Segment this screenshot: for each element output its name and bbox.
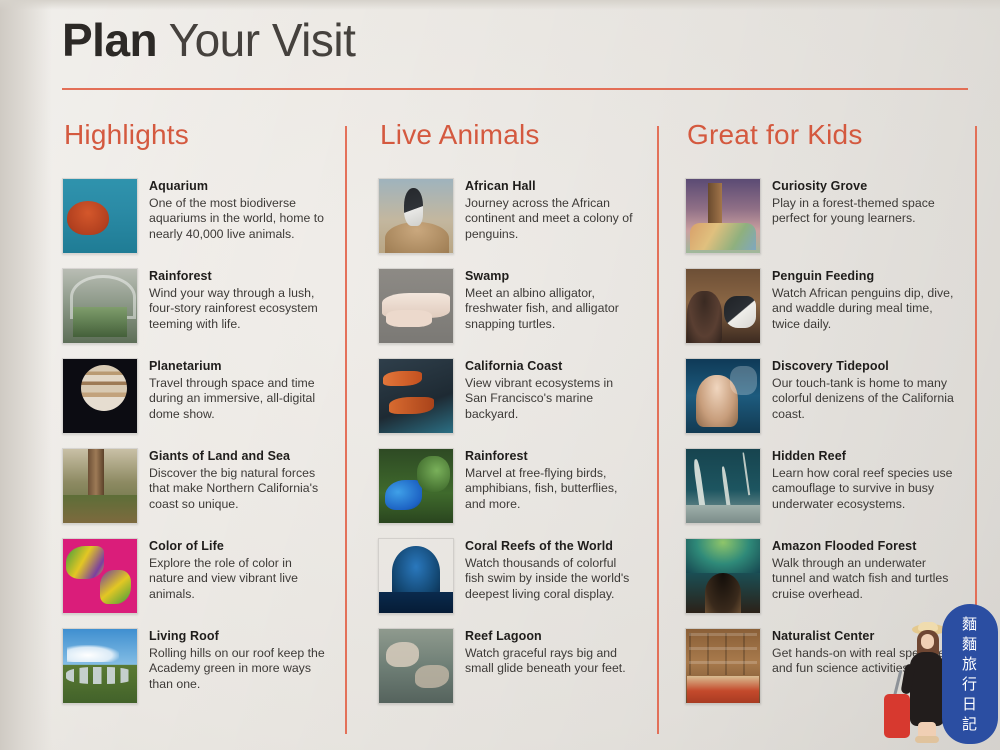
item-description: Watch thousands of colorful fish swim by… [465, 556, 633, 602]
page-title-light: Your Visit [157, 14, 355, 66]
item-description: Learn how coral reef species use camoufl… [772, 466, 958, 512]
page-header: Plan Your Visit [62, 10, 962, 70]
thumbnail-jellyfish [62, 178, 138, 254]
list-item[interactable]: Color of Life Explore the role of color … [62, 538, 342, 614]
item-description: Meet an albino alligator, freshwater fis… [465, 286, 633, 332]
watermark-char: 旅 [962, 654, 978, 674]
list-item[interactable]: Curiosity Grove Play in a forest-themed … [685, 178, 965, 254]
item-name: Hidden Reef [772, 449, 958, 464]
watermark-char: 麵 [962, 634, 978, 654]
column-divider-2 [657, 126, 659, 734]
watermark-char: 麵 [962, 614, 978, 634]
item-name: Penguin Feeding [772, 269, 958, 284]
thumbnail-curiosity-grove [685, 178, 761, 254]
item-name: Curiosity Grove [772, 179, 958, 194]
item-description: Journey across the African continent and… [465, 196, 633, 242]
page-title: Plan Your Visit [62, 10, 962, 70]
list-item[interactable]: Penguin Feeding Watch African penguins d… [685, 268, 965, 344]
item-name: Rainforest [149, 269, 329, 284]
item-description: Explore the role of color in nature and … [149, 556, 329, 602]
item-description: One of the most biodiverse aquariums in … [149, 196, 329, 242]
item-name: California Coast [465, 359, 633, 374]
thumbnail-living-roof [62, 628, 138, 704]
item-description: Rolling hills on our roof keep the Acade… [149, 646, 329, 692]
list-item[interactable]: California Coast View vibrant ecosystems… [378, 358, 643, 434]
list-item[interactable]: Coral Reefs of the World Watch thousands… [378, 538, 643, 614]
item-description: Wind your way through a lush, four-story… [149, 286, 329, 332]
column-highlights: Highlights Aquarium One of the most biod… [62, 118, 342, 718]
column-divider-1 [345, 126, 347, 734]
column-title-great-for-kids: Great for Kids [687, 118, 965, 152]
list-item[interactable]: Aquarium One of the most biodiverse aqua… [62, 178, 342, 254]
thumbnail-garden-eels [685, 448, 761, 524]
thumbnail-jupiter [62, 358, 138, 434]
thumbnail-penguin-feeding [685, 268, 761, 344]
item-description: View vibrant ecosystems in San Francisco… [465, 376, 633, 422]
column-title-highlights: Highlights [64, 118, 342, 152]
list-item[interactable]: Hidden Reef Learn how coral reef species… [685, 448, 965, 524]
column-live-animals: Live Animals African Hall Journey across… [378, 118, 643, 718]
thumbnail-blue-butterfly [378, 448, 454, 524]
watermark: 麵 麵 旅 行 日 記 [870, 585, 1000, 750]
item-name: Amazon Flooded Forest [772, 539, 958, 554]
item-name: Aquarium [149, 179, 329, 194]
watermark-char: 行 [962, 674, 978, 694]
item-description: Marvel at free-flying birds, amphibians,… [465, 466, 633, 512]
panel-top-edge-shadow [0, 0, 1000, 10]
item-description: Play in a forest-themed space perfect fo… [772, 196, 958, 227]
thumbnail-colorful-birds [62, 538, 138, 614]
item-name: Color of Life [149, 539, 329, 554]
list-item[interactable]: Swamp Meet an albino alligator, freshwat… [378, 268, 643, 344]
item-name: Giants of Land and Sea [149, 449, 329, 464]
thumbnail-albino-alligator [378, 268, 454, 344]
list-item[interactable]: Rainforest Wind your way through a lush,… [62, 268, 342, 344]
watermark-bubble: 麵 麵 旅 行 日 記 [942, 604, 998, 744]
list-item[interactable]: Giants of Land and Sea Discover the big … [62, 448, 342, 524]
thumbnail-rainforest-dome [62, 268, 138, 344]
item-name: Discovery Tidepool [772, 359, 958, 374]
watermark-char: 日 [962, 694, 978, 714]
item-description: Travel through space and time during an … [149, 376, 329, 422]
watermark-char: 記 [962, 714, 978, 734]
item-description: Our touch-tank is home to many colorful … [772, 376, 958, 422]
list-item[interactable]: Rainforest Marvel at free-flying birds, … [378, 448, 643, 524]
item-name: Coral Reefs of the World [465, 539, 633, 554]
thumbnail-reef-lagoon-ray [378, 628, 454, 704]
item-name: Living Roof [149, 629, 329, 644]
item-name: African Hall [465, 179, 633, 194]
list-item[interactable]: Discovery Tidepool Our touch-tank is hom… [685, 358, 965, 434]
column-title-live-animals: Live Animals [380, 118, 643, 152]
item-name: Rainforest [465, 449, 633, 464]
item-description: Watch graceful rays big and small glide … [465, 646, 633, 677]
item-description: Discover the big natural forces that mak… [149, 466, 329, 512]
page-title-bold: Plan [62, 14, 157, 66]
thumbnail-discovery-tidepool [685, 358, 761, 434]
thumbnail-naturalist-center [685, 628, 761, 704]
thumbnail-coral-reef-tank [378, 538, 454, 614]
thumbnail-amazon-tunnel [685, 538, 761, 614]
thumbnail-penguin-on-rock [378, 178, 454, 254]
item-name: Planetarium [149, 359, 329, 374]
list-item[interactable]: Reef Lagoon Watch graceful rays big and … [378, 628, 643, 704]
item-description: Watch African penguins dip, dive, and wa… [772, 286, 958, 332]
header-divider-rule [62, 88, 968, 90]
thumbnail-rockfish [378, 358, 454, 434]
list-item[interactable]: Planetarium Travel through space and tim… [62, 358, 342, 434]
list-item[interactable]: Living Roof Rolling hills on our roof ke… [62, 628, 342, 704]
thumbnail-redwood-forest [62, 448, 138, 524]
item-name: Swamp [465, 269, 633, 284]
item-name: Reef Lagoon [465, 629, 633, 644]
list-item[interactable]: African Hall Journey across the African … [378, 178, 643, 254]
columns-container: Highlights Aquarium One of the most biod… [0, 118, 1000, 743]
